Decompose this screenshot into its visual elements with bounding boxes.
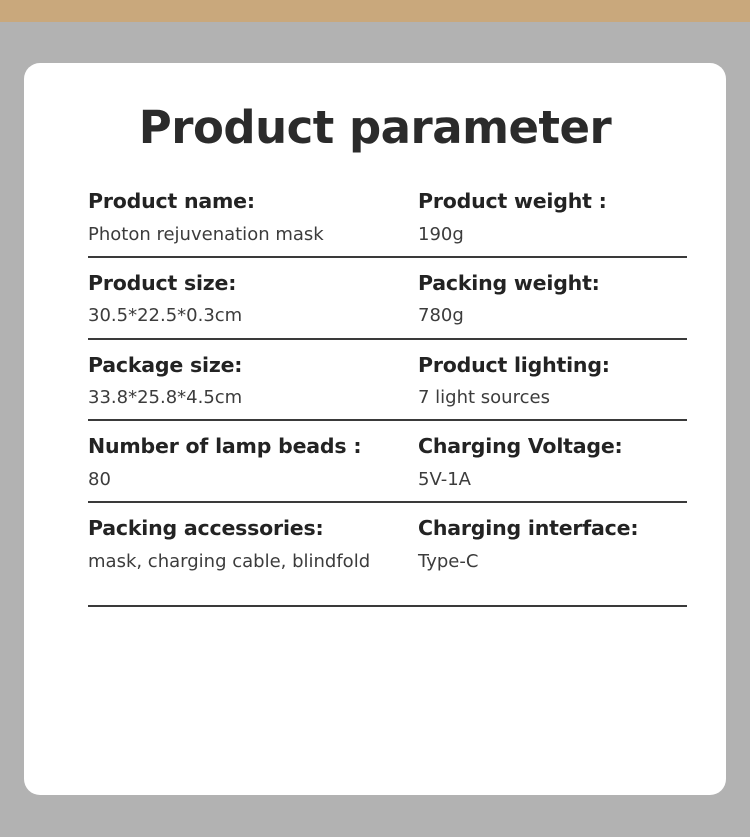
table-cell-left: Product size: 30.5*22.5*0.3cm [88,270,418,330]
table-cell-right: Charging interface: Type-C [418,515,687,597]
parameter-label: Packing weight: [418,270,687,298]
parameter-value: 190g [418,222,687,248]
parameter-label: Charging Voltage: [418,433,687,461]
parameter-label: Number of lamp beads : [88,433,410,461]
page-background: Product parameter Product name: Photon r… [0,22,750,837]
parameter-value: 5V-1A [418,467,687,493]
table-row: Product size: 30.5*22.5*0.3cm Packing we… [88,258,687,340]
top-accent-strip [0,0,750,22]
table-row: Product name: Photon rejuvenation mask P… [88,176,687,258]
table-cell-left: Product name: Photon rejuvenation mask [88,188,418,248]
table-cell-right: Product lighting: 7 light sources [418,352,687,412]
parameter-label: Package size: [88,352,410,380]
table-cell-left: Packing accessories: mask, charging cabl… [88,515,418,597]
table-row: Packing accessories: mask, charging cabl… [88,503,687,607]
page-title: Product parameter [24,101,726,154]
table-cell-right: Packing weight: 780g [418,270,687,330]
table-cell-left: Number of lamp beads : 80 [88,433,418,493]
table-cell-left: Package size: 33.8*25.8*4.5cm [88,352,418,412]
parameter-value: 30.5*22.5*0.3cm [88,303,410,329]
parameter-value: mask, charging cable, blindfold [88,549,410,575]
parameter-value: 7 light sources [418,385,687,411]
parameter-value: Type-C [418,549,687,575]
parameter-label: Product name: [88,188,410,216]
parameter-label: Packing accessories: [88,515,410,543]
parameter-table: Product name: Photon rejuvenation mask P… [88,176,687,607]
table-cell-right: Charging Voltage: 5V-1A [418,433,687,493]
parameter-value: Photon rejuvenation mask [88,222,410,248]
table-row: Number of lamp beads : 80 Charging Volta… [88,421,687,503]
table-row: Package size: 33.8*25.8*4.5cm Product li… [88,340,687,422]
product-parameter-card: Product parameter Product name: Photon r… [24,63,726,795]
table-cell-right: Product weight : 190g [418,188,687,248]
parameter-label: Charging interface: [418,515,687,543]
parameter-label: Product size: [88,270,410,298]
parameter-value: 80 [88,467,410,493]
parameter-value: 33.8*25.8*4.5cm [88,385,410,411]
parameter-label: Product lighting: [418,352,687,380]
parameter-label: Product weight : [418,188,687,216]
parameter-value: 780g [418,303,687,329]
